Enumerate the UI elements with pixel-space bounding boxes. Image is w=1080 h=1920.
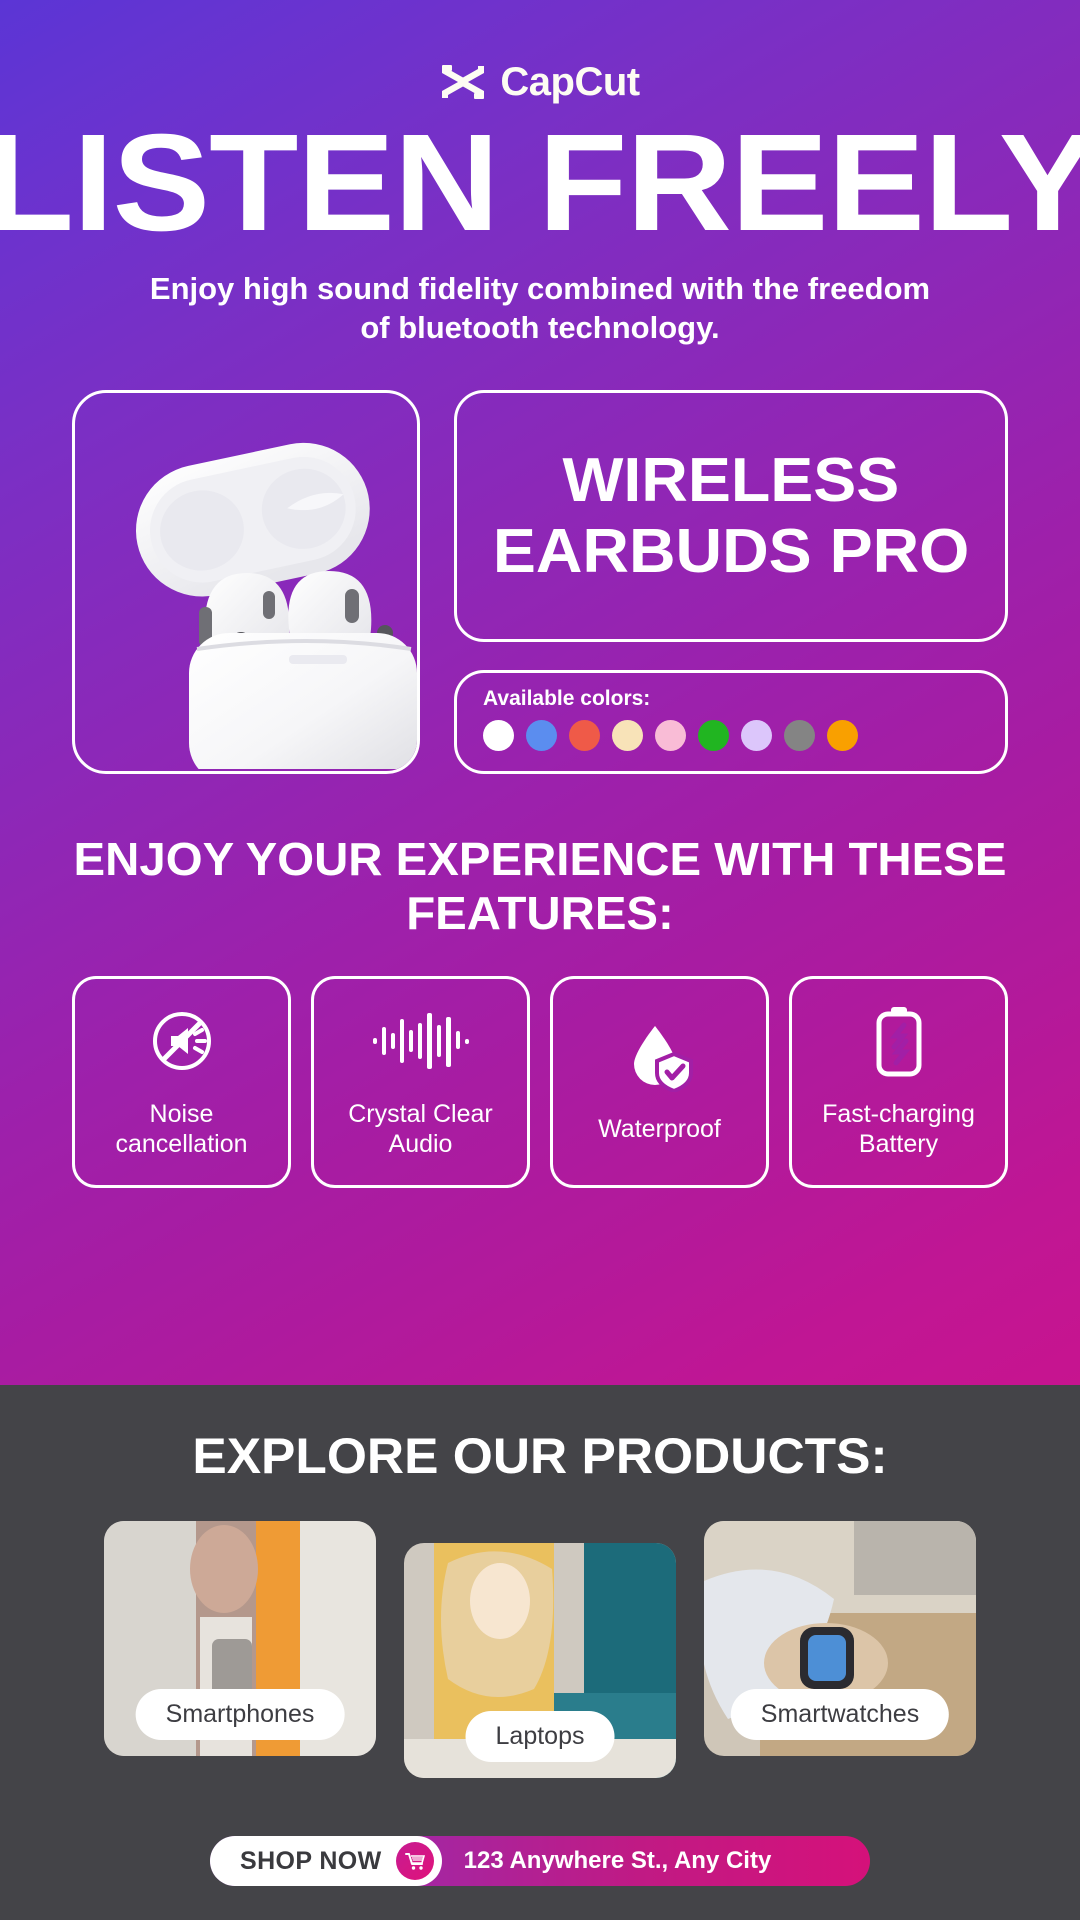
shopping-cart-icon <box>396 1842 434 1880</box>
product-info-column: WIRELESS EARBUDS PRO Available colors: <box>454 390 1008 774</box>
shop-now-button[interactable]: SHOP NOW <box>210 1836 442 1886</box>
explore-heading: EXPLORE OUR PRODUCTS: <box>0 1427 1080 1485</box>
waterproof-shield-icon <box>624 1020 696 1092</box>
color-swatch-pink[interactable] <box>655 720 686 751</box>
color-swatch-list <box>483 720 979 751</box>
product-card-label: Smartwatches <box>731 1689 949 1740</box>
color-swatch-gray[interactable] <box>784 720 815 751</box>
color-swatch-orange[interactable] <box>827 720 858 751</box>
page-title: LISTEN FREELY <box>0 124 1080 243</box>
shop-now-label: SHOP NOW <box>240 1847 382 1876</box>
color-swatch-blue[interactable] <box>526 720 557 751</box>
footer-address: 123 Anywhere St., Any City <box>464 1847 772 1875</box>
brand-name: CapCut <box>500 62 639 102</box>
footer-cta-bar: SHOP NOW 123 Anywhere St., Any City <box>210 1836 870 1886</box>
product-cards-row: Smartphones Laptops <box>0 1521 1080 1778</box>
hero-subtitle: Enjoy high sound fidelity combined with … <box>145 269 935 348</box>
product-title-line-2: EARBUDS PRO <box>493 520 969 583</box>
capcut-logo-icon <box>440 62 486 102</box>
product-card-label: Laptops <box>466 1711 615 1762</box>
features-row: Noise cancellation <box>72 976 1008 1188</box>
available-colors-label: Available colors: <box>483 687 979 711</box>
brand-logo: CapCut <box>0 0 1080 102</box>
feature-card-fast-charging-battery: Fast-charging Battery <box>789 976 1008 1188</box>
product-card-label: Smartphones <box>136 1689 345 1740</box>
battery-charging-icon <box>873 1005 925 1077</box>
color-swatch-red[interactable] <box>569 720 600 751</box>
features-heading: ENJOY YOUR EXPERIENCE WITH THESE FEATURE… <box>0 832 1080 940</box>
product-title-card: WIRELESS EARBUDS PRO <box>454 390 1008 642</box>
feature-card-waterproof: Waterproof <box>550 976 769 1188</box>
audio-waveform-icon <box>371 1005 471 1077</box>
feature-label: Crystal Clear Audio <box>322 1099 519 1160</box>
feature-label: Waterproof <box>598 1114 721 1145</box>
poster-root: CapCut LISTEN FREELY Enjoy high sound fi… <box>0 0 1080 1920</box>
hero-section: CapCut LISTEN FREELY Enjoy high sound fi… <box>0 0 1080 1385</box>
product-card-smartphones[interactable]: Smartphones <box>104 1521 376 1756</box>
feature-card-noise-cancellation: Noise cancellation <box>72 976 291 1188</box>
product-card-laptops[interactable]: Laptops <box>404 1543 676 1778</box>
color-swatch-white[interactable] <box>483 720 514 751</box>
product-row: WIRELESS EARBUDS PRO Available colors: <box>72 390 1008 774</box>
earbuds-product-image <box>93 419 420 769</box>
product-title-line-1: WIRELESS <box>563 449 900 512</box>
noise-cancellation-icon <box>147 1005 217 1077</box>
available-colors-card: Available colors: <box>454 670 1008 774</box>
explore-section: EXPLORE OUR PRODUCTS: Smartphones <box>0 1385 1080 1920</box>
product-image-card <box>72 390 420 774</box>
color-swatch-lavender[interactable] <box>741 720 772 751</box>
feature-label: Fast-charging Battery <box>800 1099 997 1160</box>
feature-label: Noise cancellation <box>83 1099 280 1160</box>
feature-card-crystal-clear-audio: Crystal Clear Audio <box>311 976 530 1188</box>
color-swatch-green[interactable] <box>698 720 729 751</box>
color-swatch-cream[interactable] <box>612 720 643 751</box>
product-card-smartwatches[interactable]: Smartwatches <box>704 1521 976 1756</box>
